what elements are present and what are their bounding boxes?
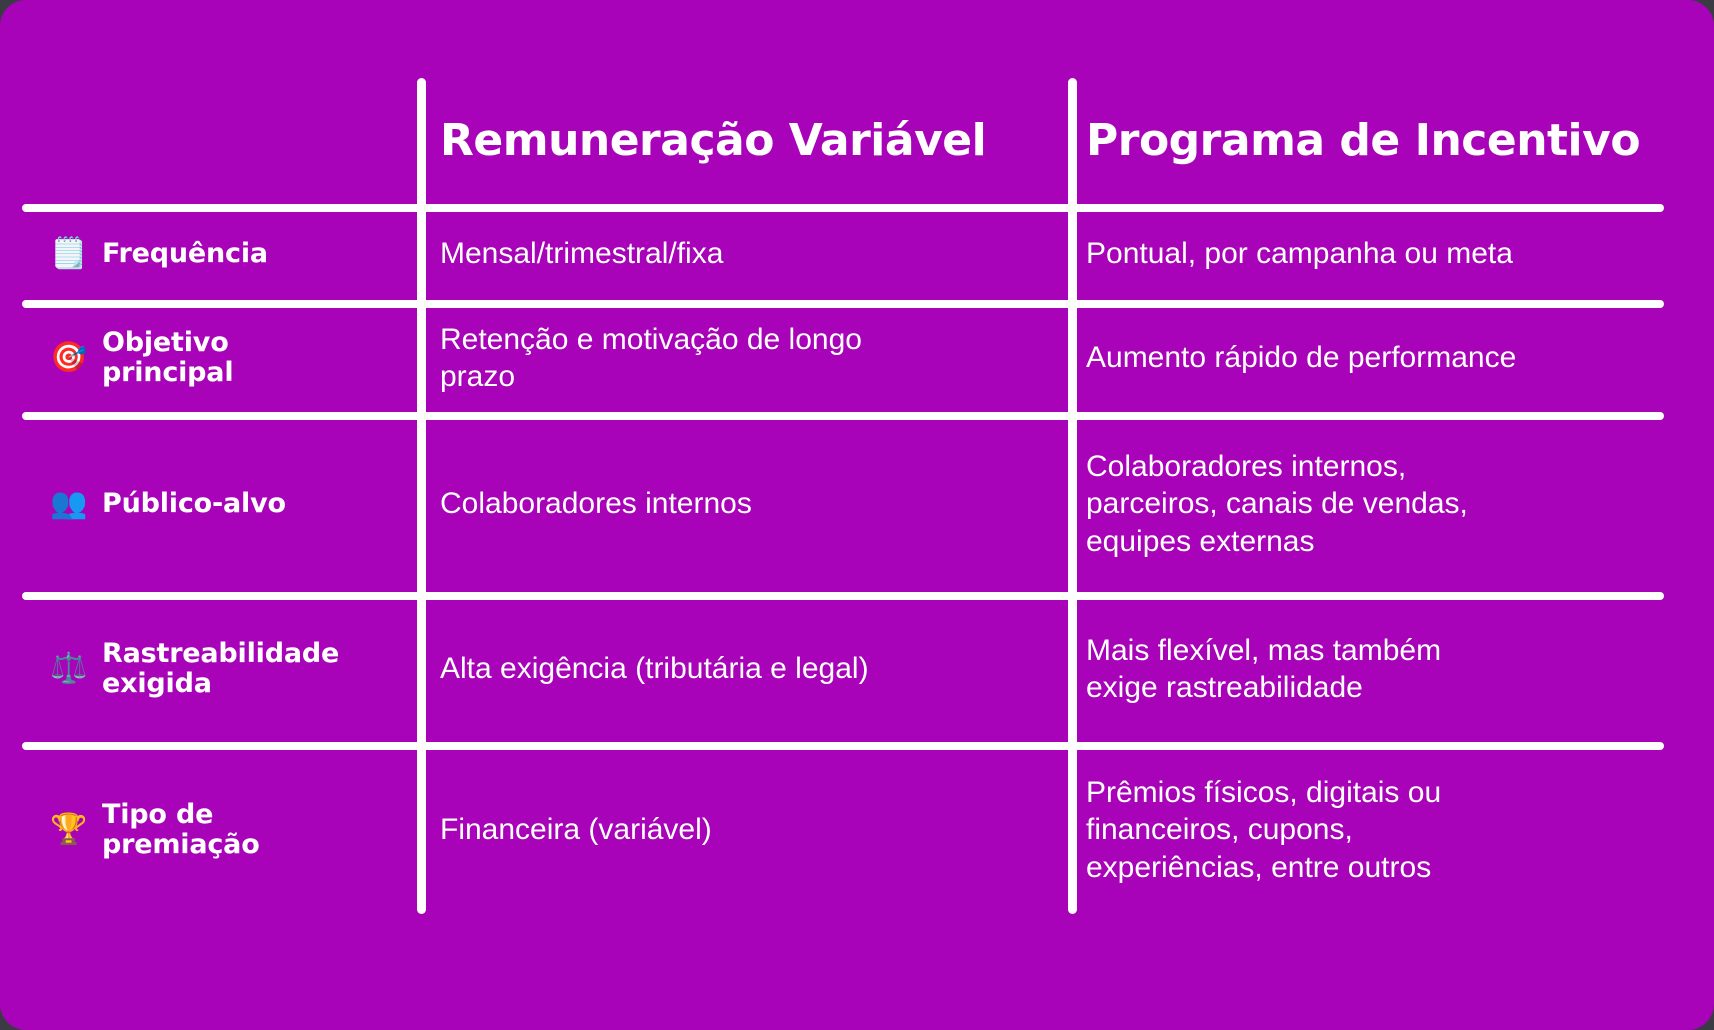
row-label-text: Tipo de premiação: [102, 800, 302, 860]
comparison-table-graphic: Remuneração Variável Programa de Incenti…: [0, 0, 1714, 1030]
trophy-icon: 🏆: [50, 815, 84, 845]
row-label-objetivo-principal: 🎯 Objetivo principal: [50, 304, 410, 412]
cell-objetivo-incentivo: Aumento rápido de performance: [1086, 304, 1526, 412]
header-programa-de-incentivo: Programa de Incentivo: [1086, 78, 1646, 204]
comparison-table: Remuneração Variável Programa de Incenti…: [0, 0, 1714, 1030]
cell-rastreabilidade-incentivo: Mais flexível, mas também exige rastreab…: [1086, 596, 1466, 742]
header-remuneracao-variavel: Remuneração Variável: [440, 78, 1040, 204]
cell-objetivo-remuneracao: Retenção e motivação de longo prazo: [440, 304, 910, 412]
cell-publico-remuneracao: Colaboradores internos: [440, 416, 1050, 592]
balance-scale-icon: ⚖️: [50, 654, 84, 684]
cell-frequencia-incentivo: Pontual, por campanha ou meta: [1086, 208, 1646, 300]
row-label-text: Frequência: [102, 239, 268, 269]
row-label-rastreabilidade-exigida: ⚖️ Rastreabilidade exigida: [50, 596, 410, 742]
row-label-text: Objetivo principal: [102, 328, 302, 388]
row-label-frequencia: 🗒️ Frequência: [50, 208, 410, 300]
cell-rastreabilidade-remuneracao: Alta exigência (tributária e legal): [440, 596, 940, 742]
cell-frequencia-remuneracao: Mensal/trimestral/fixa: [440, 208, 1050, 300]
row-label-publico-alvo: 👥 Público-alvo: [50, 416, 410, 592]
busts-in-silhouette-icon: 👥: [50, 489, 84, 519]
row-label-text: Rastreabilidade exigida: [102, 639, 382, 699]
row-label-tipo-de-premiacao: 🏆 Tipo de premiação: [50, 746, 410, 914]
cell-tipo-incentivo: Prêmios físicos, digitais ou financeiros…: [1086, 746, 1506, 914]
cell-publico-incentivo: Colaboradores internos, parceiros, canai…: [1086, 416, 1486, 592]
row-label-text: Público-alvo: [102, 489, 286, 519]
spiral-notepad-icon: 🗒️: [50, 239, 84, 269]
dart-target-icon: 🎯: [50, 343, 84, 373]
cell-tipo-remuneracao: Financeira (variável): [440, 746, 1050, 914]
